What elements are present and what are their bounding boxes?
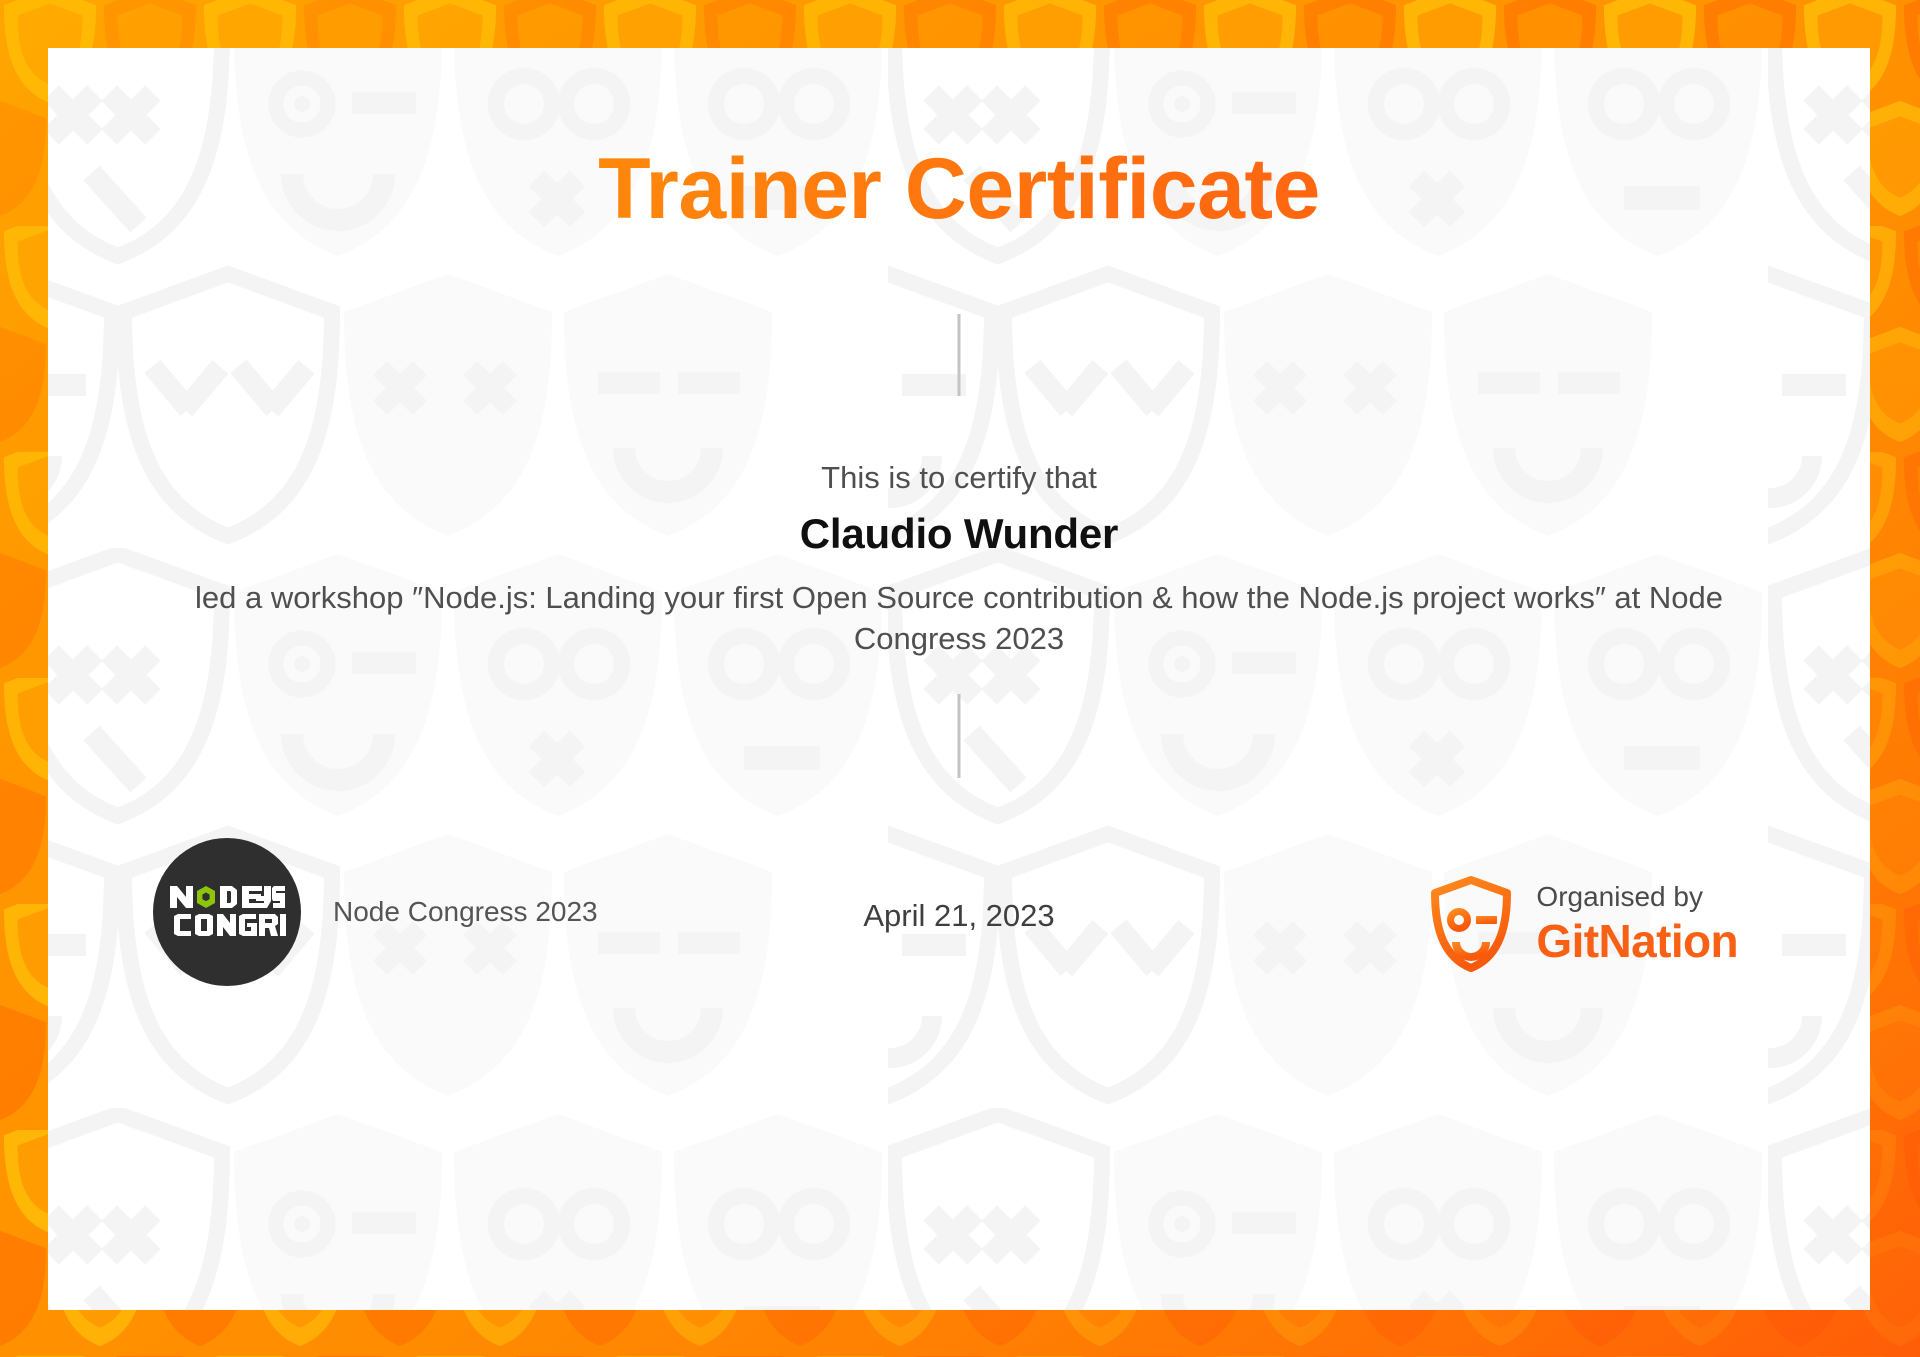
organiser-name: GitNation bbox=[1536, 916, 1738, 968]
divider-bottom bbox=[958, 694, 961, 778]
achievement-description: led a workshop ″Node.js: Landing your fi… bbox=[188, 578, 1730, 660]
certificate-stage: Trainer Certificate This is to certify t… bbox=[0, 0, 1920, 1357]
certificate-card: Trainer Certificate This is to certify t… bbox=[48, 48, 1870, 1310]
divider-top bbox=[958, 314, 961, 396]
certificate-footer: Node Congress 2023 April 21, 2023 bbox=[48, 820, 1870, 1020]
gitnation-shield-icon bbox=[1430, 876, 1512, 972]
organiser-block: Organised by GitNation bbox=[1430, 876, 1738, 972]
certify-line: This is to certify that bbox=[48, 460, 1870, 496]
recipient-name: Claudio Wunder bbox=[48, 510, 1870, 558]
page-title: Trainer Certificate bbox=[48, 144, 1870, 234]
organised-by-label: Organised by bbox=[1536, 881, 1738, 912]
